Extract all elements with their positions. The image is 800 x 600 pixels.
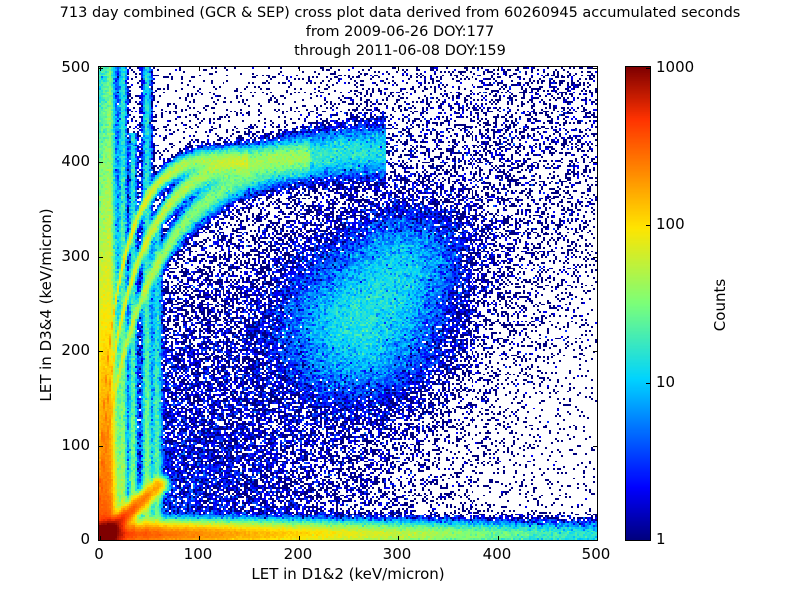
y-tick-label: 200 bbox=[20, 341, 90, 359]
x-tick-label: 200 bbox=[263, 545, 333, 563]
y-tick-label: 0 bbox=[20, 530, 90, 548]
colorbar-tick bbox=[646, 383, 650, 384]
x-tick bbox=[398, 536, 399, 540]
colorbar-gradient bbox=[626, 67, 650, 540]
y-tick bbox=[99, 351, 103, 352]
y-tick bbox=[99, 162, 103, 163]
y-tick-label: 500 bbox=[20, 58, 90, 76]
figure-canvas: 713 day combined (GCR & SEP) cross plot … bbox=[0, 0, 800, 600]
x-tick bbox=[597, 536, 598, 540]
plot-axes[interactable] bbox=[98, 66, 598, 541]
x-tick-top bbox=[498, 67, 499, 71]
x-tick bbox=[299, 536, 300, 540]
colorbar-tick-label: 1 bbox=[656, 530, 666, 548]
x-tick bbox=[498, 536, 499, 540]
x-tick-label: 500 bbox=[561, 545, 631, 563]
x-tick-top bbox=[199, 67, 200, 71]
colorbar-tick-label: 1000 bbox=[656, 58, 694, 76]
title-line-2: from 2009-06-26 DOY:177 bbox=[0, 23, 800, 42]
x-tick-top bbox=[398, 67, 399, 71]
x-tick-top bbox=[299, 67, 300, 71]
y-axis-label: LET in D3&4 (keV/micron) bbox=[37, 155, 55, 455]
colorbar-tick bbox=[646, 68, 650, 69]
chart-title: 713 day combined (GCR & SEP) cross plot … bbox=[0, 4, 800, 61]
y-tick-right bbox=[593, 257, 597, 258]
x-tick-top bbox=[597, 67, 598, 71]
colorbar[interactable] bbox=[625, 66, 651, 541]
y-tick-label: 400 bbox=[20, 152, 90, 170]
x-axis-label: LET in D1&2 (keV/micron) bbox=[98, 565, 598, 583]
x-tick-label: 100 bbox=[163, 545, 233, 563]
colorbar-tick-label: 10 bbox=[656, 373, 675, 391]
colorbar-label: Counts bbox=[711, 225, 729, 385]
density-heatmap bbox=[99, 67, 597, 540]
y-tick bbox=[99, 540, 103, 541]
colorbar-tick-label: 100 bbox=[656, 215, 685, 233]
y-tick-right bbox=[593, 540, 597, 541]
y-tick bbox=[99, 68, 103, 69]
title-line-1: 713 day combined (GCR & SEP) cross plot … bbox=[0, 4, 800, 23]
x-tick bbox=[199, 536, 200, 540]
y-tick-right bbox=[593, 162, 597, 163]
colorbar-tick bbox=[646, 225, 650, 226]
y-tick bbox=[99, 257, 103, 258]
x-tick-label: 300 bbox=[362, 545, 432, 563]
x-tick-label: 400 bbox=[462, 545, 532, 563]
y-tick-right bbox=[593, 68, 597, 69]
y-tick-label: 100 bbox=[20, 436, 90, 454]
y-tick bbox=[99, 446, 103, 447]
colorbar-tick bbox=[646, 540, 650, 541]
y-tick-label: 300 bbox=[20, 247, 90, 265]
y-tick-right bbox=[593, 446, 597, 447]
y-tick-right bbox=[593, 351, 597, 352]
